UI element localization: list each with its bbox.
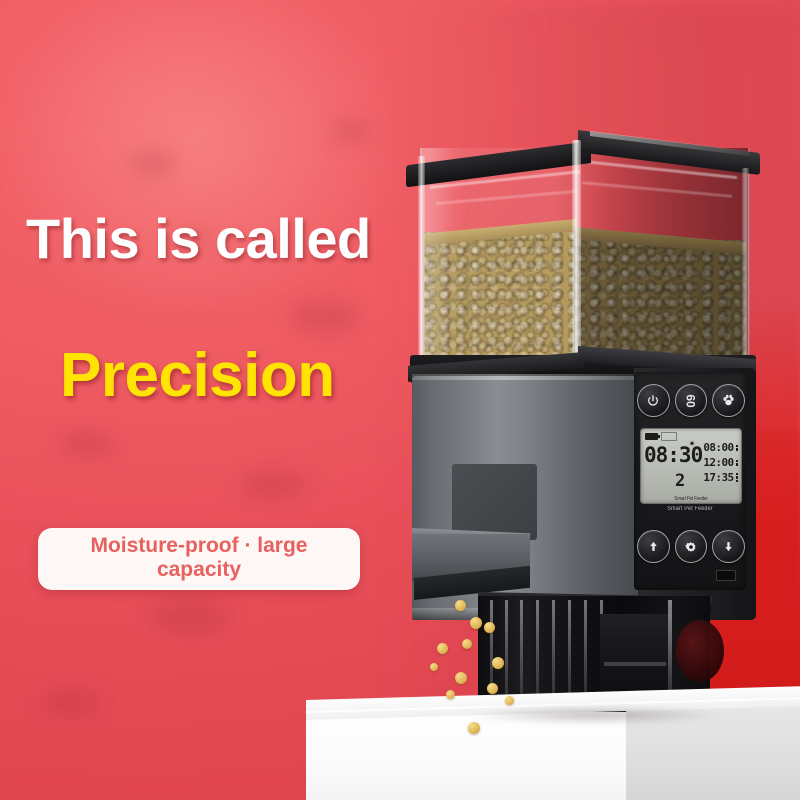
kibble-pellet: [484, 622, 495, 633]
power-icon: [646, 394, 660, 408]
lcd-schedule-row: 12:00: [692, 457, 738, 468]
lcd-brand-text: Smart Pet Feeder: [645, 496, 737, 502]
portion-dot: [736, 448, 739, 451]
kibble-side-face: [574, 240, 746, 364]
lcd-status-bar: [645, 432, 677, 441]
lcd-schedule-list: 08:0012:0017:35: [692, 442, 738, 483]
down-button[interactable]: [712, 530, 745, 563]
portion-dot: [736, 463, 739, 466]
set-button[interactable]: [675, 530, 708, 563]
feature-badge-line2: capacity: [157, 558, 241, 581]
record-button[interactable]: 60: [675, 384, 708, 417]
feature-badge-text: Moisture-proof · large capacity: [90, 534, 307, 583]
advertisement-canvas: 60 ✷ 08:30 2 08:0012:0017:35: [0, 0, 800, 800]
product-contact-shadow: [470, 706, 720, 724]
lcd-schedule-time: 17:35: [703, 472, 733, 483]
kibble-pellet: [470, 617, 482, 629]
usb-power-port: [716, 570, 736, 581]
kibble-pellet: [487, 683, 498, 694]
paw-icon: [721, 393, 736, 408]
control-panel-bottom-row: [637, 530, 745, 563]
feed-now-button[interactable]: [712, 384, 745, 417]
feature-badge-line1: Moisture-proof · large: [90, 534, 307, 557]
portion-dot: [736, 460, 739, 463]
portion-dot: [736, 480, 739, 483]
kibble-pellet: [468, 722, 480, 734]
lcd-schedule-portion-dots: [736, 473, 739, 483]
battery-icon: [645, 433, 658, 440]
portion-dot: [736, 445, 739, 448]
lcd-schedule-time: 12:00: [703, 457, 733, 468]
lcd-display: ✷ 08:30 2 08:0012:0017:35 Smart Pet Feed…: [640, 428, 742, 504]
kibble-pellet: [446, 690, 455, 699]
subheadline-text: Precision: [60, 340, 335, 411]
kibble-pellet: [455, 600, 466, 611]
lcd-schedule-row: 17:35: [692, 472, 738, 483]
kibble-pellet: [437, 643, 448, 654]
panel-brand-strip: Smart Pet Feeder: [645, 506, 735, 512]
hopper-corner-post-left: [418, 156, 425, 366]
feature-badge: Moisture-proof · large capacity: [38, 528, 360, 590]
kibble-pellet: [455, 672, 467, 684]
kibble-front-face: [424, 232, 574, 364]
signal-icon: [661, 432, 677, 441]
hopper-corner-post-right: [742, 168, 749, 364]
kibble-pellet: [430, 663, 438, 671]
headline-text: This is called: [26, 206, 371, 271]
power-button[interactable]: [637, 384, 670, 417]
kibble-pellet: [505, 696, 514, 705]
kibble-pellet: [462, 639, 472, 649]
dispenser-inner-shelf: [604, 662, 666, 666]
device-body-top-bevel: [412, 374, 638, 380]
gear-icon: [684, 540, 698, 554]
pedestal-front-face: [306, 712, 626, 800]
control-panel-top-row: 60: [637, 384, 745, 417]
dispenser-rotor: [676, 620, 724, 682]
lcd-schedule-row: 08:00: [692, 442, 738, 453]
hopper-corner-post-front: [572, 140, 581, 370]
lcd-schedule-portion-dots: [736, 445, 739, 451]
lcd-portion-count: 2: [675, 473, 685, 490]
record-60s-icon: 60: [685, 394, 697, 407]
portion-dot: [736, 476, 739, 479]
up-button[interactable]: [637, 530, 670, 563]
lcd-schedule-time: 08:00: [703, 442, 733, 453]
arrow-down-icon: [722, 540, 735, 553]
lcd-schedule-portion-dots: [736, 460, 739, 466]
kibble-pellet: [492, 657, 504, 669]
device-body-inset-panel: [452, 464, 537, 540]
portion-dot: [736, 473, 739, 476]
arrow-up-icon: [647, 540, 660, 553]
